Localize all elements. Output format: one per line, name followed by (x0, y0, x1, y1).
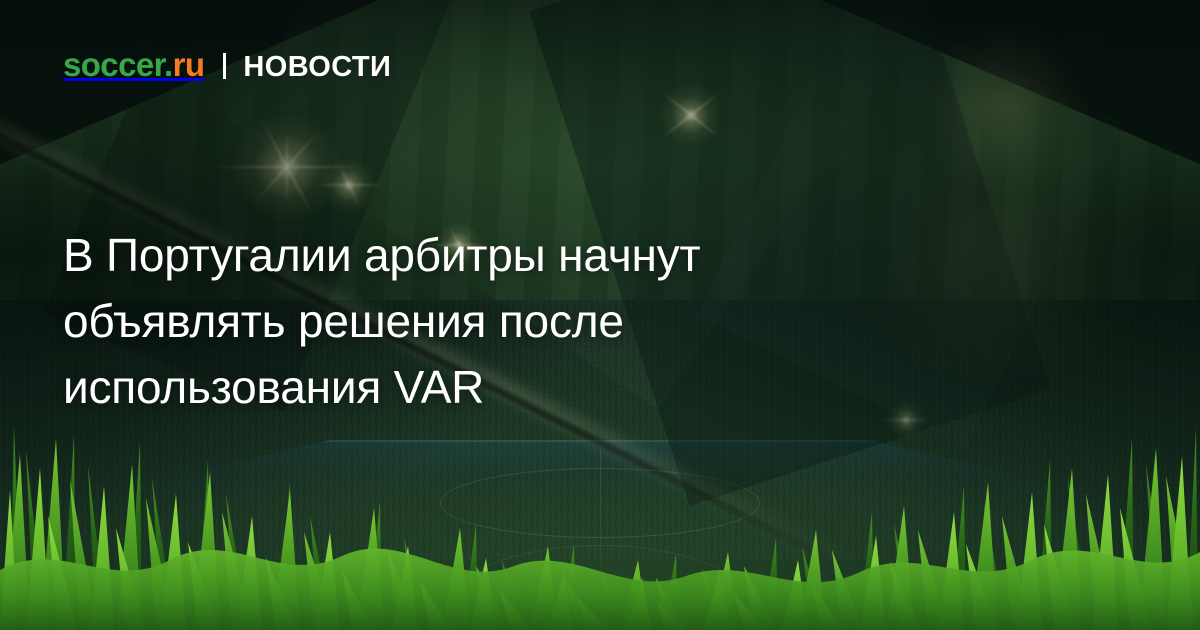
soccer-ru-logo[interactable]: soccer.ru (63, 48, 204, 81)
card-header: soccer.ru НОВОСТИ (63, 48, 391, 82)
news-share-card: soccer.ru НОВОСТИ В Португалии арбитры н… (0, 0, 1200, 630)
grass-foreground (0, 420, 1200, 630)
section-label-news: НОВОСТИ (243, 53, 391, 82)
headline-line: объявлять решения после (63, 288, 943, 354)
headline-line: использования VAR (63, 354, 943, 420)
logo-tld-text: ru (173, 46, 205, 83)
logo-name-text: soccer (63, 46, 164, 83)
headline-title: В Португалии арбитры начнут объявлять ре… (63, 222, 943, 420)
logo-dot: . (164, 46, 173, 83)
header-divider (223, 53, 226, 79)
headline-line: В Португалии арбитры начнут (63, 222, 943, 288)
